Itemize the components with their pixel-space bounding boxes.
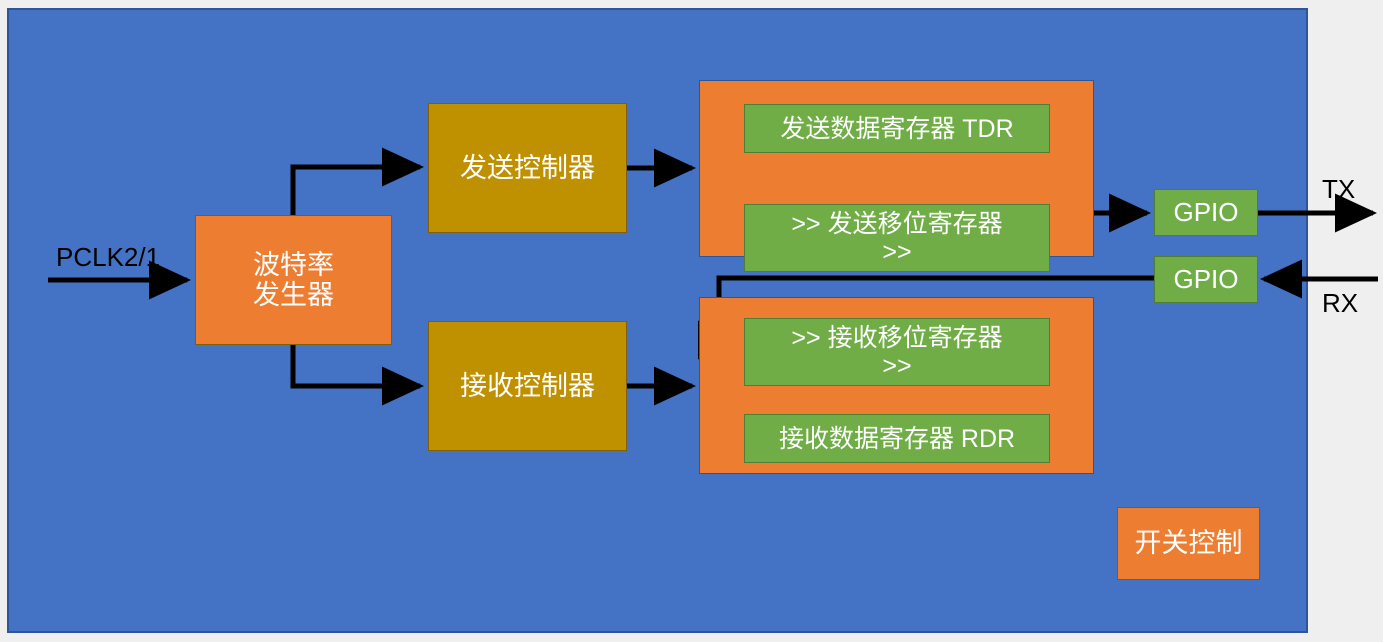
tx-data-register-label: 发送数据寄存器 TDR	[780, 115, 1013, 143]
rx-shift-register-label: >> 接收移位寄存器 >>	[791, 324, 1002, 380]
rx-pin-label: RX	[1322, 288, 1358, 319]
pclk-input-label: PCLK2/1	[56, 242, 160, 273]
rx-shift-register[interactable]: >> 接收移位寄存器 >>	[744, 318, 1050, 386]
tx-shift-register-label: >> 发送移位寄存器 >>	[791, 210, 1002, 266]
baud-rate-generator-label: 波特率 发生器	[253, 250, 334, 310]
baud-rate-generator-block[interactable]: 波特率 发生器	[195, 215, 392, 345]
rx-register-group: >> 接收移位寄存器 >> 接收数据寄存器 RDR	[699, 297, 1094, 474]
switch-control-label: 开关控制	[1135, 528, 1243, 558]
tx-register-group: 发送数据寄存器 TDR >> 发送移位寄存器 >>	[699, 80, 1094, 257]
tx-shift-register[interactable]: >> 发送移位寄存器 >>	[744, 204, 1050, 272]
tx-pin-label: TX	[1322, 174, 1355, 205]
rx-data-register-rdr[interactable]: 接收数据寄存器 RDR	[744, 414, 1050, 463]
tx-controller-label: 发送控制器	[460, 153, 595, 183]
rx-data-register-label: 接收数据寄存器 RDR	[779, 425, 1015, 453]
rx-controller-block[interactable]: 接收控制器	[428, 321, 627, 451]
gpio-tx-label: GPIO	[1173, 198, 1238, 227]
tx-data-register-tdr[interactable]: 发送数据寄存器 TDR	[744, 104, 1050, 153]
gpio-rx-block[interactable]: GPIO	[1154, 256, 1258, 303]
rx-controller-label: 接收控制器	[460, 371, 595, 401]
switch-control-block[interactable]: 开关控制	[1117, 507, 1260, 580]
gpio-rx-label: GPIO	[1173, 265, 1238, 294]
diagram-canvas: 波特率 发生器 发送控制器 接收控制器 发送数据寄存器 TDR >> 发送移位寄…	[0, 0, 1383, 642]
tx-controller-block[interactable]: 发送控制器	[428, 103, 627, 233]
gpio-tx-block[interactable]: GPIO	[1154, 189, 1258, 236]
